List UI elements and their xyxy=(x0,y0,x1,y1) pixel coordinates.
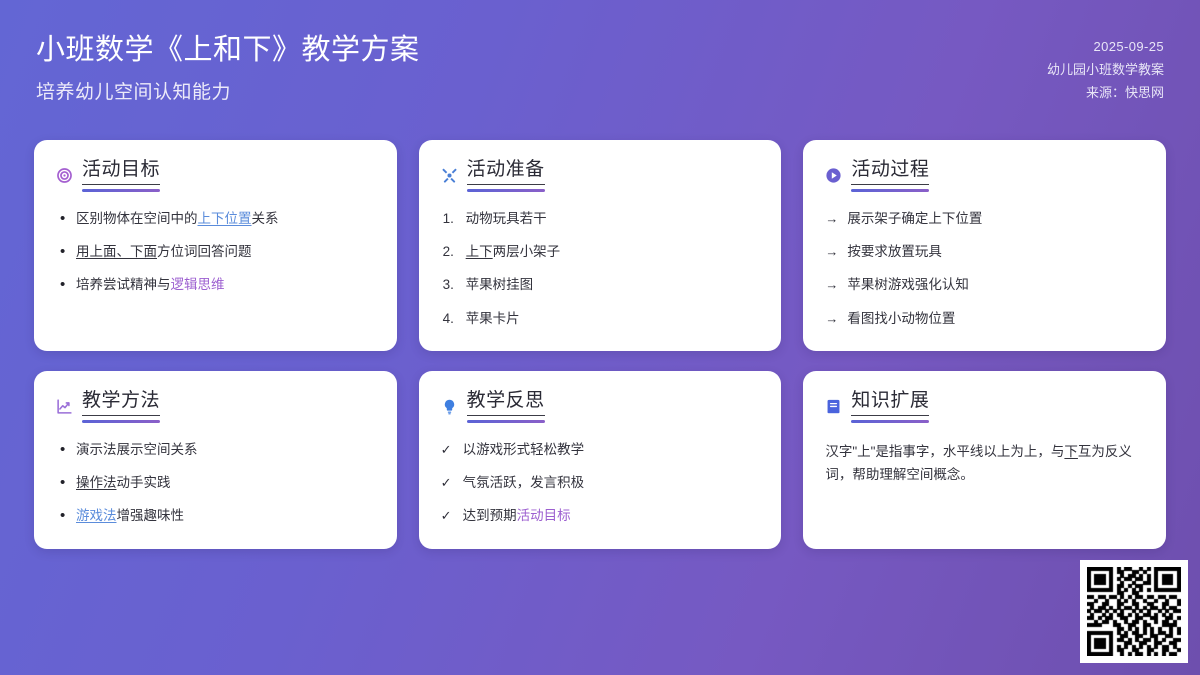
card-header: 教学反思 xyxy=(441,391,760,423)
plain-text: 气氛活跃，发言积极 xyxy=(463,475,585,490)
title-underline-rule xyxy=(851,420,929,423)
card-title-wrap: 教学反思 xyxy=(467,391,545,423)
card-header: 活动过程 xyxy=(825,160,1144,192)
highlight-blue-text: 上下位置 xyxy=(198,211,252,226)
list-item: 游戏法增强趣味性 xyxy=(56,506,375,526)
card-activity-process: 活动过程→展示架子确定上下位置→按要求放置玩具→苹果树游戏强化认知→看图找小动物… xyxy=(803,140,1166,351)
list-item: ✓达到预期活动目标 xyxy=(441,506,760,526)
title-underline-rule xyxy=(851,189,929,192)
tools-icon xyxy=(441,167,458,184)
card-header: 活动目标 xyxy=(56,160,375,192)
list-item: 演示法展示空间关系 xyxy=(56,440,375,460)
list-item: →按要求放置玩具 xyxy=(825,242,1144,262)
target-icon xyxy=(56,167,73,184)
card-bullet-list: 区别物体在空间中的上下位置关系用上面、下面方位词回答问题培养尝试精神与逻辑思维 xyxy=(56,209,375,296)
card-title-wrap: 活动过程 xyxy=(851,160,929,192)
highlight-blue-text: 游戏法 xyxy=(76,508,117,523)
card-title: 活动准备 xyxy=(467,160,545,185)
plain-text: 方位词回答问题 xyxy=(157,244,252,259)
underlined-text: 下 xyxy=(1064,444,1078,459)
plain-text: 演示法展示空间关系 xyxy=(76,442,198,457)
card-title: 教学方法 xyxy=(82,391,160,416)
card-header: 知识扩展 xyxy=(825,391,1144,423)
plain-text: 汉字"上"是指事字，水平线以上为上，与 xyxy=(825,444,1064,459)
plain-text: 苹果树挂图 xyxy=(466,277,534,292)
card-arrows-list: →展示架子确定上下位置→按要求放置玩具→苹果树游戏强化认知→看图找小动物位置 xyxy=(825,209,1144,329)
list-item: ✓气氛活跃，发言积极 xyxy=(441,473,760,493)
check-marker-icon: ✓ xyxy=(441,440,452,460)
qr-code-block[interactable] xyxy=(1080,560,1188,663)
card-title: 教学反思 xyxy=(467,391,545,416)
plain-text: 苹果卡片 xyxy=(466,311,520,326)
check-marker-icon: ✓ xyxy=(441,473,452,493)
header-left-group: 小班数学《上和下》教学方案 培养幼儿空间认知能力 xyxy=(36,26,420,104)
card-title: 知识扩展 xyxy=(851,391,929,416)
list-item: ✓以游戏形式轻松教学 xyxy=(441,440,760,460)
arrow-marker-icon: → xyxy=(825,275,838,295)
title-underline-rule xyxy=(467,189,545,192)
list-item: 操作法动手实践 xyxy=(56,473,375,493)
list-item: 苹果卡片 xyxy=(443,309,760,329)
card-numbered-list: 动物玩具若干上下两层小架子苹果树挂图苹果卡片 xyxy=(441,209,760,329)
lightbulb-icon xyxy=(441,398,458,415)
list-item: →展示架子确定上下位置 xyxy=(825,209,1144,229)
plain-text: 关系 xyxy=(252,211,279,226)
check-marker-icon: ✓ xyxy=(441,506,452,526)
card-activity-prep: 活动准备动物玩具若干上下两层小架子苹果树挂图苹果卡片 xyxy=(419,140,782,351)
title-underline-rule xyxy=(467,420,545,423)
arrow-marker-icon: → xyxy=(825,242,838,262)
meta-category: 幼儿园小班数学教案 xyxy=(1047,59,1164,82)
poster-canvas: 小班数学《上和下》教学方案 培养幼儿空间认知能力 2025-09-25 幼儿园小… xyxy=(0,0,1200,675)
card-teaching-reflection: 教学反思✓以游戏形式轻松教学✓气氛活跃，发言积极✓达到预期活动目标 xyxy=(419,371,782,549)
book-icon xyxy=(825,398,842,415)
list-item: →苹果树游戏强化认知 xyxy=(825,275,1144,295)
card-checks-list: ✓以游戏形式轻松教学✓气氛活跃，发言积极✓达到预期活动目标 xyxy=(441,440,760,527)
highlight-purple-text: 逻辑思维 xyxy=(171,277,225,292)
card-paragraph: 汉字"上"是指事字，水平线以上为上，与下互为反义词，帮助理解空间概念。 xyxy=(825,440,1144,487)
meta-date: 2025-09-25 xyxy=(1047,36,1164,59)
plain-text: 增强趣味性 xyxy=(117,508,185,523)
card-title-wrap: 活动目标 xyxy=(82,160,160,192)
plain-text: 动手实践 xyxy=(117,475,171,490)
list-item: 培养尝试精神与逻辑思维 xyxy=(56,275,375,295)
plain-text: 区别物体在空间中的 xyxy=(76,211,198,226)
meta-source: 来源：快思网 xyxy=(1047,82,1164,105)
plain-text: 看图找小动物位置 xyxy=(847,311,955,326)
plain-text: 两层小架子 xyxy=(493,244,561,259)
header-meta-group: 2025-09-25 幼儿园小班数学教案 来源：快思网 xyxy=(1047,26,1164,104)
title-underline-rule xyxy=(82,189,160,192)
qr-code-icon xyxy=(1087,567,1181,656)
card-knowledge-extension: 知识扩展汉字"上"是指事字，水平线以上为上，与下互为反义词，帮助理解空间概念。 xyxy=(803,371,1166,549)
page-title: 小班数学《上和下》教学方案 xyxy=(36,32,420,68)
chart-line-icon xyxy=(56,398,73,415)
plain-text: 达到预期 xyxy=(463,508,517,523)
list-item: 苹果树挂图 xyxy=(443,275,760,295)
card-grid: 活动目标区别物体在空间中的上下位置关系用上面、下面方位词回答问题培养尝试精神与逻… xyxy=(34,140,1166,549)
play-circle-icon xyxy=(825,167,842,184)
list-item: 区别物体在空间中的上下位置关系 xyxy=(56,209,375,229)
highlight-purple-text: 活动目标 xyxy=(517,508,571,523)
poster-header: 小班数学《上和下》教学方案 培养幼儿空间认知能力 2025-09-25 幼儿园小… xyxy=(0,0,1200,122)
list-item: 用上面、下面方位词回答问题 xyxy=(56,242,375,262)
arrow-marker-icon: → xyxy=(825,309,838,329)
list-item: 上下两层小架子 xyxy=(443,242,760,262)
card-header: 教学方法 xyxy=(56,391,375,423)
plain-text: 培养尝试精神与 xyxy=(76,277,171,292)
plain-text: 以游戏形式轻松教学 xyxy=(463,442,585,457)
list-item: →看图找小动物位置 xyxy=(825,309,1144,329)
underlined-text: 用上面、下面 xyxy=(76,244,157,259)
list-item: 动物玩具若干 xyxy=(443,209,760,229)
underlined-text: 操作法 xyxy=(76,475,117,490)
title-underline-rule xyxy=(82,420,160,423)
card-title: 活动过程 xyxy=(851,160,929,185)
card-title: 活动目标 xyxy=(82,160,160,185)
plain-text: 按要求放置玩具 xyxy=(847,244,942,259)
plain-text: 动物玩具若干 xyxy=(466,211,547,226)
card-title-wrap: 活动准备 xyxy=(467,160,545,192)
plain-text: 展示架子确定上下位置 xyxy=(847,211,982,226)
card-bullet-list: 演示法展示空间关系操作法动手实践游戏法增强趣味性 xyxy=(56,440,375,527)
arrow-marker-icon: → xyxy=(825,209,838,229)
card-header: 活动准备 xyxy=(441,160,760,192)
plain-text: 苹果树游戏强化认知 xyxy=(847,277,969,292)
underlined-text: 上下 xyxy=(466,244,493,259)
card-title-wrap: 知识扩展 xyxy=(851,391,929,423)
card-title-wrap: 教学方法 xyxy=(82,391,160,423)
page-subtitle: 培养幼儿空间认知能力 xyxy=(36,77,420,104)
card-activity-goal: 活动目标区别物体在空间中的上下位置关系用上面、下面方位词回答问题培养尝试精神与逻… xyxy=(34,140,397,351)
card-teaching-method: 教学方法演示法展示空间关系操作法动手实践游戏法增强趣味性 xyxy=(34,371,397,549)
